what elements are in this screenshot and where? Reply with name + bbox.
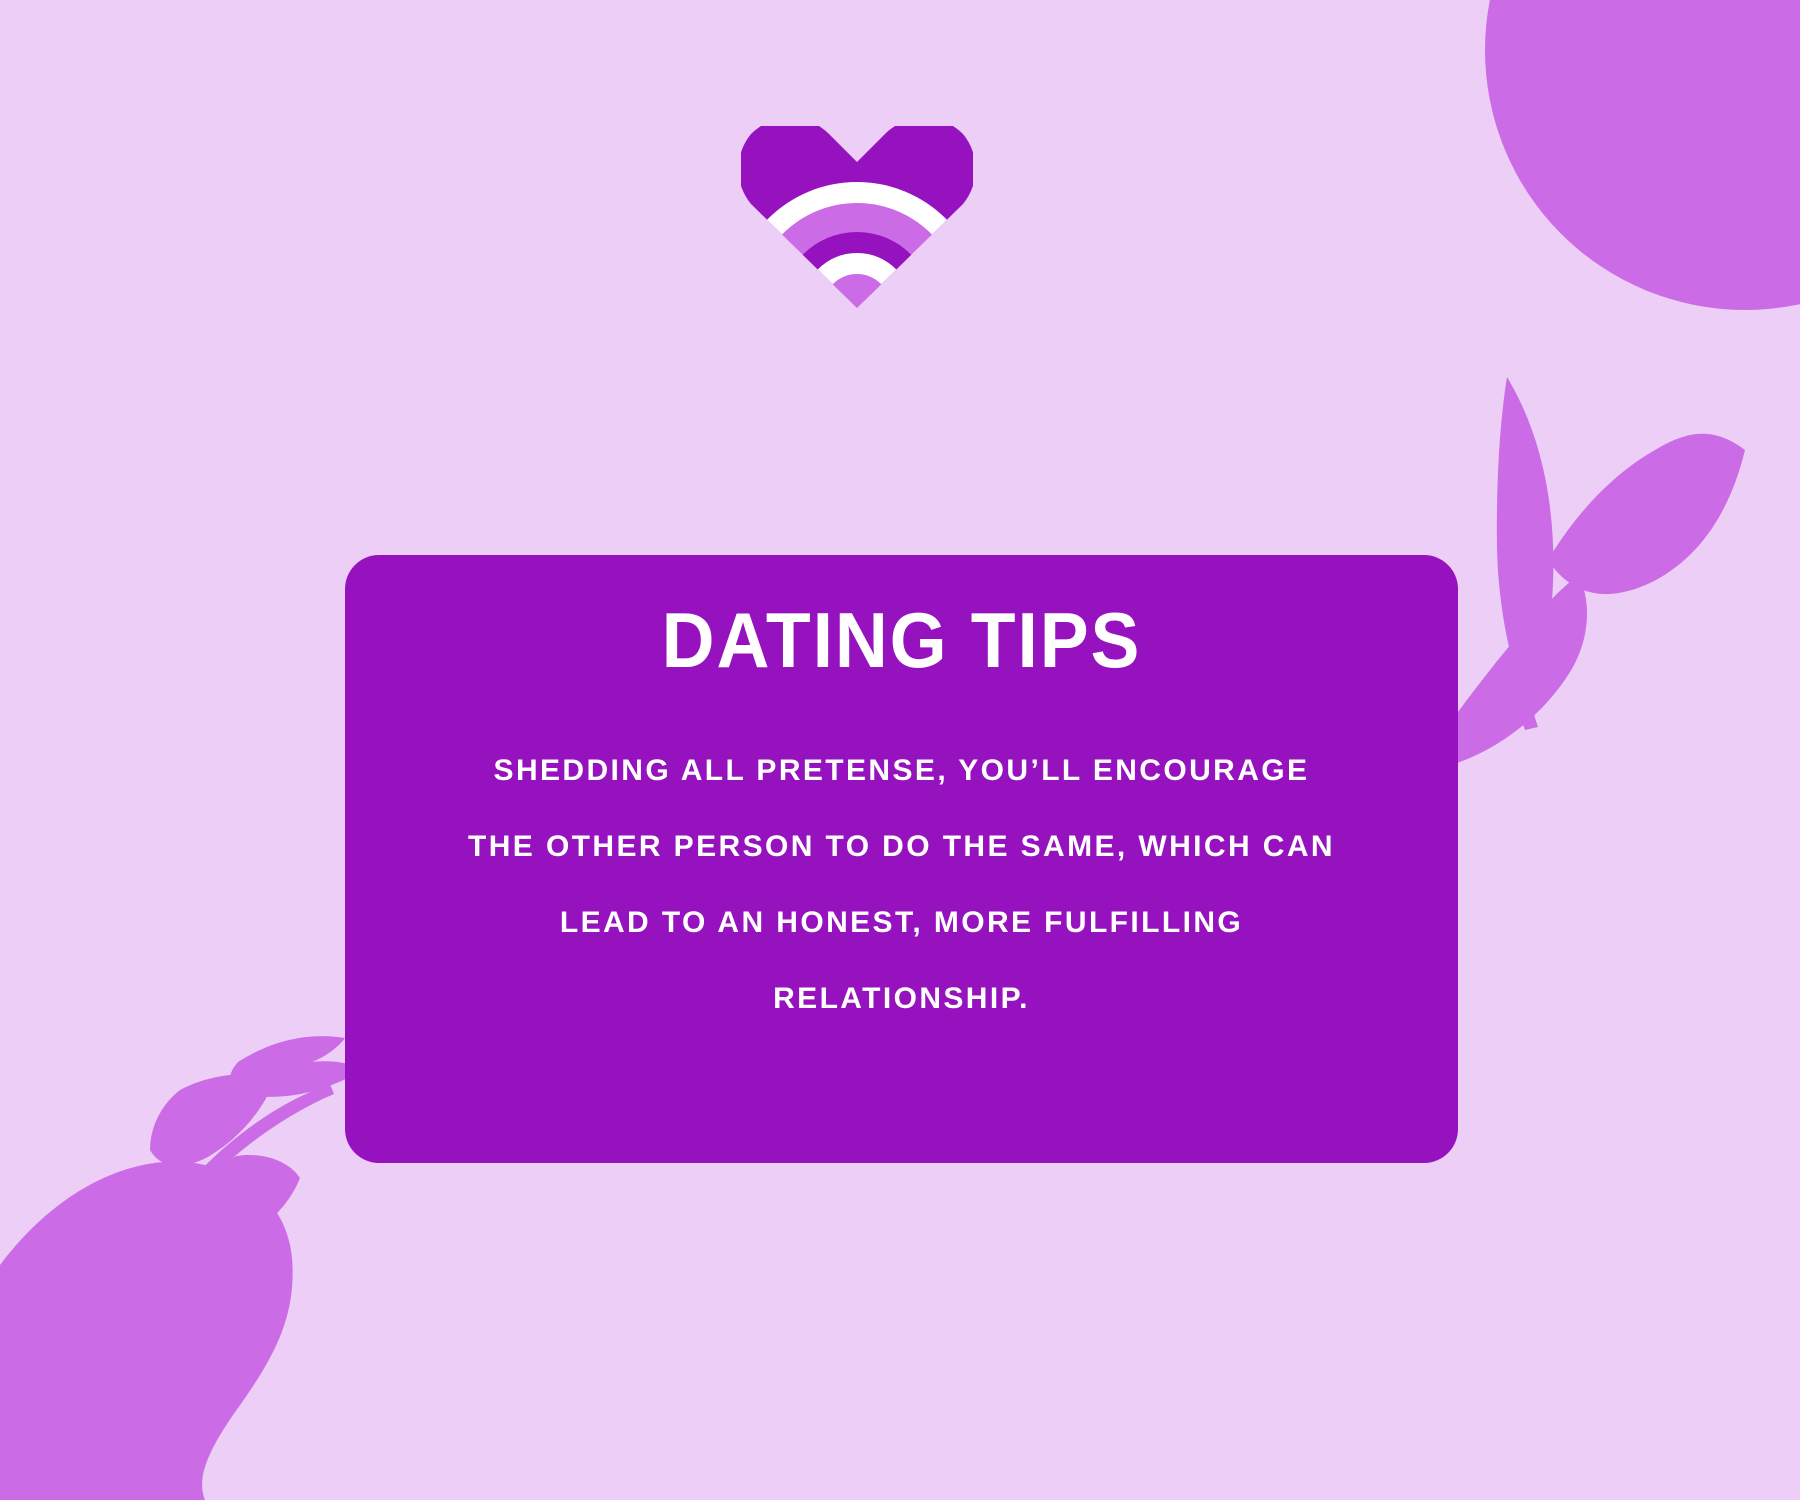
card-body: SHEDDING ALL PRETENSE, YOU’LL ENCOURAGE … xyxy=(395,733,1408,1037)
card-body-line: LEAD TO AN HONEST, MORE FULFILLING xyxy=(395,885,1408,961)
leaf-branch-bottom-left-icon xyxy=(150,1036,362,1241)
brand-logo xyxy=(741,126,973,308)
circle-blob-top-right-icon xyxy=(1485,0,1800,310)
card-title: DATING TIPS xyxy=(378,601,1424,679)
card-body-line: SHEDDING ALL PRETENSE, YOU’LL ENCOURAGE xyxy=(395,733,1408,809)
dating-tips-card: DATING TIPS SHEDDING ALL PRETENSE, YOU’L… xyxy=(345,555,1458,1163)
heart-wifi-logo-icon xyxy=(741,126,973,308)
card-body-line: THE OTHER PERSON TO DO THE SAME, WHICH C… xyxy=(395,809,1408,885)
card-body-line: RELATIONSHIP. xyxy=(395,961,1408,1037)
leaf-sprig-right-icon xyxy=(1418,377,1745,770)
poster-canvas: DATING TIPS SHEDDING ALL PRETENSE, YOU’L… xyxy=(0,0,1800,1500)
organic-blob-bottom-left-icon xyxy=(0,1162,293,1500)
